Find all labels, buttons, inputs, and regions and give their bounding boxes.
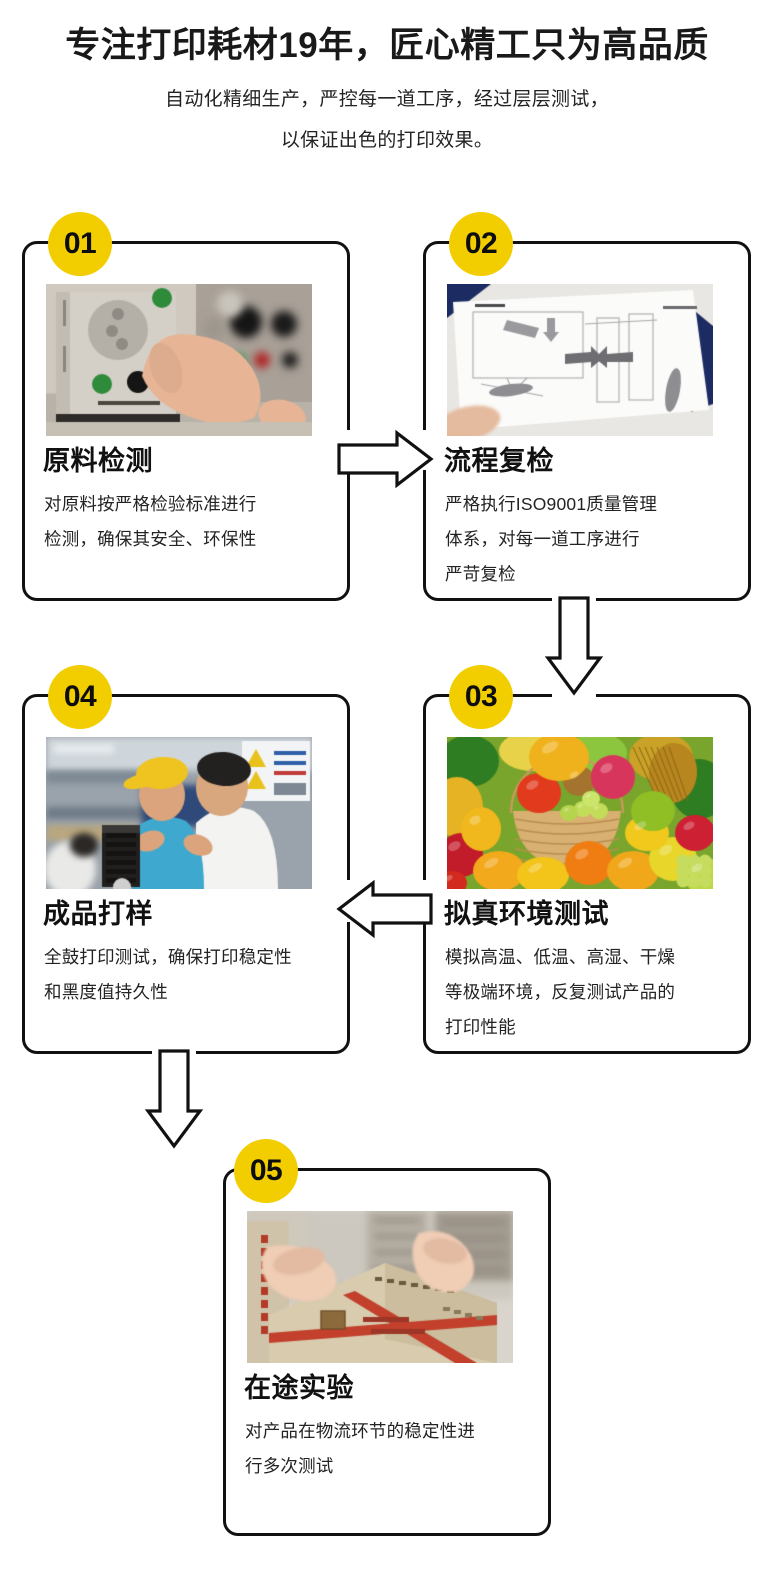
page-subtitle: 自动化精细生产，严控每一道工序，经过层层测试， 以保证出色的打印效果。: [0, 79, 774, 161]
step-card-04-body-line-2: 和黑度值持久性: [44, 975, 349, 1010]
step-card-03-body: 模拟高温、低温、高湿、干燥 等极端环境，反复测试产品的 打印性能: [445, 940, 750, 1045]
step-card-01[interactable]: 原料检测 对原料按严格检验标准进行 检测，确保其安全、环保性: [22, 241, 350, 601]
step-badge-02: 02: [449, 212, 513, 276]
step-card-05-body: 对产品在物流环节的稳定性进 行多次测试: [245, 1414, 550, 1484]
step-card-02-title: 流程复检: [444, 447, 554, 475]
page-subtitle-line-1: 自动化精细生产，严控每一道工序，经过层层测试，: [0, 79, 774, 120]
step-card-01-body-line-2: 检测，确保其安全、环保性: [44, 522, 344, 557]
photo-process-recheck-blueprint: [447, 284, 713, 436]
step-card-04-title: 成品打样: [43, 900, 153, 928]
step-card-02[interactable]: 流程复检 严格执行ISO9001质量管理 体系，对每一道工序进行 严苛复检: [423, 241, 751, 601]
header: 专注打印耗材19年，匠心精工只为高品质 自动化精细生产，严控每一道工序，经过层层…: [0, 0, 774, 161]
step-card-03-body-line-2: 等极端环境，反复测试产品的: [445, 975, 750, 1010]
step-card-04-body: 全鼓打印测试，确保打印稳定性 和黑度值持久性: [44, 940, 349, 1010]
step-card-02-body-line-3: 严苛复检: [445, 557, 745, 592]
page-subtitle-line-2: 以保证出色的打印效果。: [0, 120, 774, 161]
page-title: 专注打印耗材19年，匠心精工只为高品质: [0, 28, 774, 63]
step-card-04[interactable]: 成品打样 全鼓打印测试，确保打印稳定性 和黑度值持久性: [22, 694, 350, 1054]
step-badge-03: 03: [449, 665, 513, 729]
arrow-step1-to-step2: [337, 431, 433, 487]
step-card-05-title: 在途实验: [244, 1374, 354, 1402]
step-card-01-body-line-1: 对原料按严格检验标准进行: [44, 487, 344, 522]
step-badge-04: 04: [48, 665, 112, 729]
photo-in-transit-experiment-carton: [247, 1211, 513, 1363]
step-card-01-title: 原料检测: [43, 447, 153, 475]
step-badge-01: 01: [48, 212, 112, 276]
step-card-03-body-line-3: 打印性能: [445, 1010, 750, 1045]
step-card-02-body-line-1: 严格执行ISO9001质量管理: [445, 487, 745, 522]
step-card-05-body-line-2: 行多次测试: [245, 1449, 550, 1484]
step-card-03-title: 拟真环境测试: [444, 900, 609, 928]
arrow-step4-to-step5: [145, 1049, 203, 1149]
photo-raw-material-inspection: [46, 284, 312, 436]
step-card-02-body: 严格执行ISO9001质量管理 体系，对每一道工序进行 严苛复检: [445, 487, 745, 592]
step-badge-05: 05: [234, 1139, 298, 1203]
step-card-05-body-line-1: 对产品在物流环节的稳定性进: [245, 1414, 550, 1449]
step-card-05[interactable]: 在途实验 对产品在物流环节的稳定性进 行多次测试: [223, 1168, 551, 1536]
photo-finished-product-proofing: [46, 737, 312, 889]
step-card-02-body-line-2: 体系，对每一道工序进行: [445, 522, 745, 557]
step-card-03[interactable]: 拟真环境测试 模拟高温、低温、高湿、干燥 等极端环境，反复测试产品的 打印性能: [423, 694, 751, 1054]
arrow-step2-to-step3: [545, 596, 603, 696]
step-card-01-body: 对原料按严格检验标准进行 检测，确保其安全、环保性: [44, 487, 344, 557]
step-card-04-body-line-1: 全鼓打印测试，确保打印稳定性: [44, 940, 349, 975]
arrow-step3-to-step4: [337, 881, 433, 937]
step-card-03-body-line-1: 模拟高温、低温、高湿、干燥: [445, 940, 750, 975]
product-process-infographic: 专注打印耗材19年，匠心精工只为高品质 自动化精细生产，严控每一道工序，经过层层…: [0, 0, 774, 1574]
photo-simulated-environment-fruit-basket: [447, 737, 713, 889]
